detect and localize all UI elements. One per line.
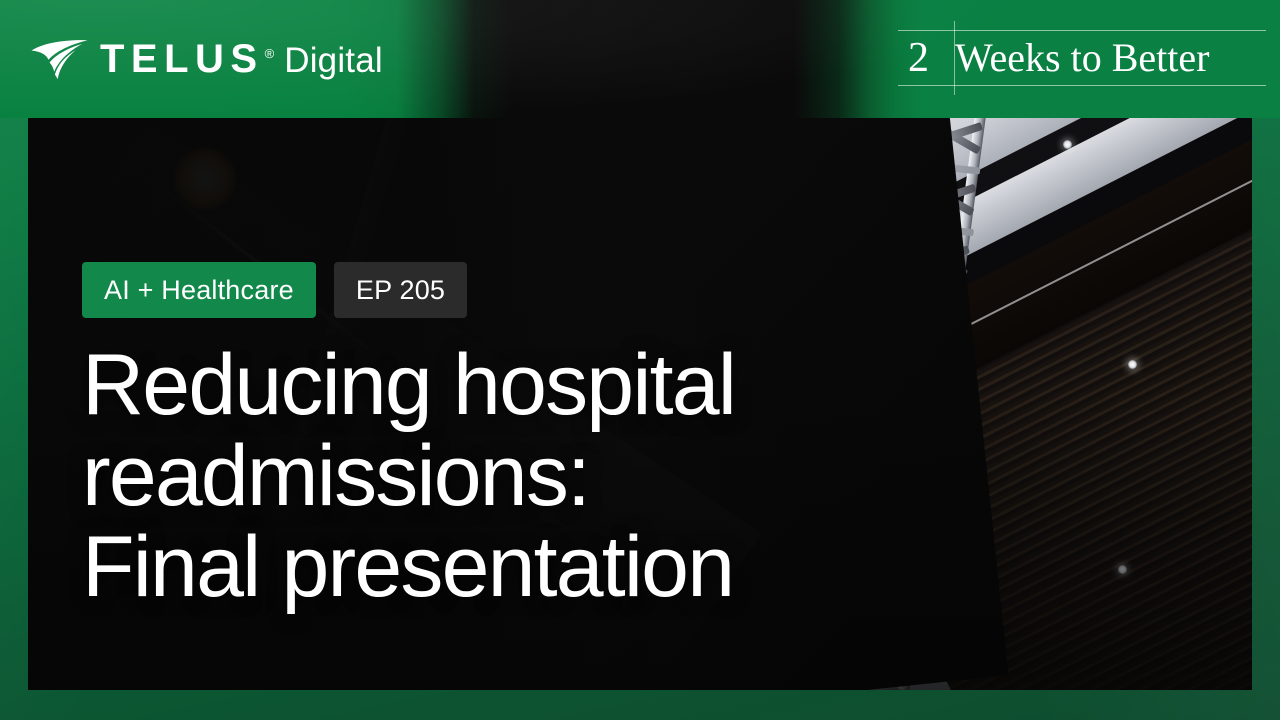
header-bar: TELUS ® Digital 2 Weeks to Better [0, 0, 1280, 118]
page-title-line-2: readmissions: [82, 431, 912, 522]
series-badge: 2 Weeks to Better [898, 30, 1266, 86]
series-number: 2 [902, 37, 943, 79]
page-title: Reducing hospital readmissions: Final pr… [82, 340, 912, 613]
title-card-canvas: TELUS ® Digital 2 Weeks to Better AI + H… [0, 0, 1280, 720]
registered-mark-icon: ® [265, 47, 275, 60]
page-title-line-3: Final presentation [82, 522, 912, 613]
episode-tag[interactable]: EP 205 [334, 262, 467, 318]
digital-wordmark: Digital [284, 43, 383, 78]
telus-swoosh-icon [30, 38, 90, 80]
series-divider [954, 21, 955, 95]
page-title-line-1: Reducing hospital [82, 340, 912, 431]
title-card-content: AI + Healthcare EP 205 Reducing hospital… [82, 262, 912, 613]
telus-wordmark: TELUS [100, 39, 264, 79]
telus-digital-logo[interactable]: TELUS ® Digital [30, 32, 383, 86]
tag-row: AI + Healthcare EP 205 [82, 262, 912, 318]
topic-tag[interactable]: AI + Healthcare [82, 262, 316, 318]
telus-digital-wordmark: TELUS ® Digital [100, 39, 383, 79]
series-name: Weeks to Better [943, 38, 1209, 78]
series-label-row: 2 Weeks to Better [898, 31, 1266, 85]
